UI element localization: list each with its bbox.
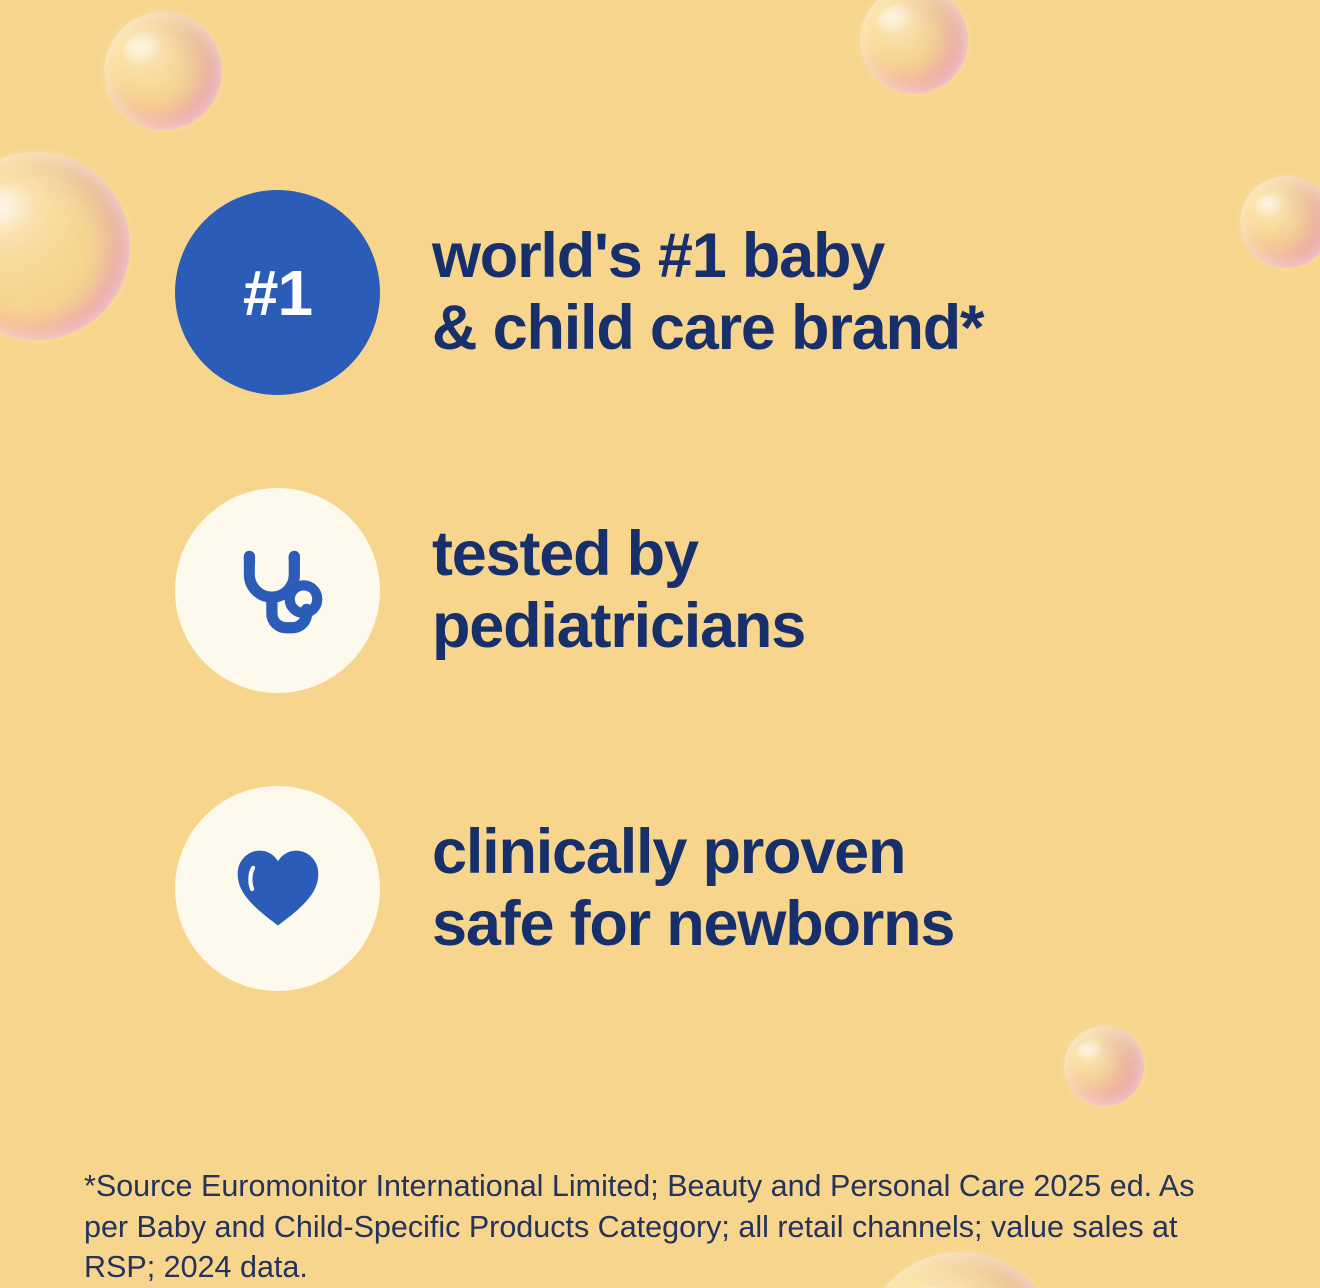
heart-icon: [230, 841, 326, 937]
number-one-badge-icon: #1: [243, 261, 312, 325]
bubble-lower-right: [1064, 1026, 1144, 1106]
bubble-gleam: [0, 177, 42, 243]
feature-row-number-one: #1 world's #1 baby & child care brand*: [175, 190, 1285, 395]
feature-text-number-one: world's #1 baby & child care brand*: [432, 221, 983, 365]
bubble-top-center: [860, 0, 968, 94]
feature-text-pediatricians: tested by pediatricians: [432, 519, 805, 663]
badge-pediatricians: [175, 488, 380, 693]
feature-text-newborns: clinically proven safe for newborns: [432, 817, 954, 961]
bubble-top-left: [104, 12, 222, 130]
stethoscope-icon: [227, 540, 329, 642]
feature-list: #1 world's #1 baby & child care brand*: [175, 190, 1285, 991]
badge-newborns: [175, 786, 380, 991]
source-footnote: *Source Euromonitor International Limite…: [84, 1166, 1244, 1288]
bubble-gleam: [874, 0, 918, 38]
bubble-gleam: [119, 28, 167, 70]
badge-number-one: #1: [175, 190, 380, 395]
bubble-gleam: [1074, 1037, 1106, 1065]
feature-row-newborns: clinically proven safe for newborns: [175, 786, 1285, 991]
bubble-left-edge: [0, 152, 130, 340]
feature-row-pediatricians: tested by pediatricians: [175, 488, 1285, 693]
